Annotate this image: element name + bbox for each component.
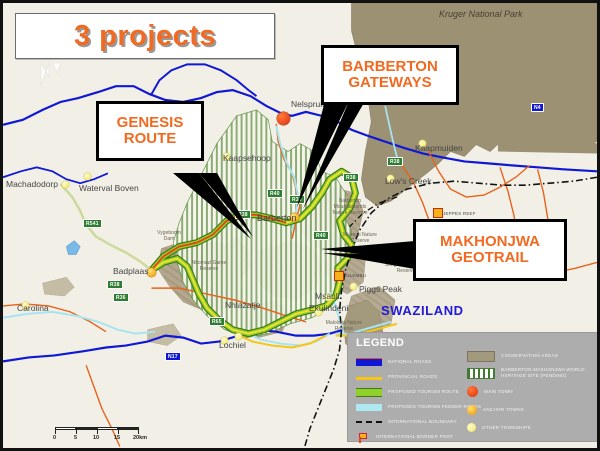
label-jeppes-reef-border-post: JEPPES REEF (443, 211, 476, 216)
label-ekulindeni: Ekulindeni (309, 303, 348, 313)
page-title: 3 projects (74, 20, 216, 53)
road-shield-r38d: R38 (107, 280, 123, 289)
legend-title: LEGEND (356, 337, 404, 349)
callout-geotrail-line2: GEOTRAIL (440, 250, 540, 266)
legend-item-world-heritage-site: BARBERTON MAKHONJWA WORLD HERITAGE SITE … (460, 364, 600, 382)
legend-item-conservation-areas: CONSERVATION AREAS (460, 349, 600, 363)
label-malolotja-nature-reserve: Malolotja Nature Reserve (321, 321, 367, 333)
legend-panel: LEGEND NATIONAL ROADS PROVINCIAL ROADS P… (348, 333, 599, 441)
road-shield-r40: R40 (267, 189, 283, 198)
scale-tick-0: 0 (53, 435, 56, 441)
north-arrow-icon (39, 61, 69, 87)
town-dot-piggs-peak[interactable] (350, 283, 357, 290)
label-machadodorp: Machadodorp (6, 179, 58, 189)
scale-bar: 0 5 10 15 20km (55, 427, 151, 443)
callout-barberton-gateways[interactable]: BARBERTON GATEWAYS (321, 45, 459, 105)
label-swaziland: SWAZILAND (381, 303, 464, 318)
international-boundary-swatch (356, 421, 382, 423)
main-town-dot (467, 386, 478, 397)
label-kaapsehoop: Kaapsehoop (223, 153, 271, 163)
label-lochiel: Lochiel (219, 340, 246, 350)
town-dot-machadodorp[interactable] (62, 181, 69, 188)
legend-item-main-town: MAIN TOWN (460, 383, 600, 400)
town-dot-nelspruit[interactable] (277, 112, 290, 125)
road-shield-n17: N17 (165, 352, 181, 361)
callout-genesis-line2: ROUTE (117, 131, 184, 147)
callout-genesis-route[interactable]: GENESIS ROUTE (96, 101, 204, 161)
label-barberton-mountainlands-nature-reserve: Barberton Mountainlands Nature Reserve (327, 199, 373, 216)
conservation-area-swatch (467, 351, 495, 362)
label-barberton: Barberton (257, 213, 297, 223)
map-figure: Kruger National Park SWAZILAND Nelspruit… (0, 0, 600, 451)
label-piggs-peak: Piggs Peak (359, 284, 402, 294)
label-nelspruit: Nelspruit (291, 99, 325, 109)
national-road-swatch (356, 358, 382, 366)
callout-genesis-line1: GENESIS (117, 115, 184, 131)
legend-item-other-townships: OTHER TOWNSHIPS (460, 419, 600, 436)
label-nhlazatje: Nhlazatje (225, 300, 260, 310)
label-lows-creek: Low's Creek (385, 176, 432, 186)
callout-makhonjwa-geotrail[interactable]: MAKHONJWA GEOTRAIL (413, 219, 567, 281)
callout-gateways-line1: BARBERTON (342, 59, 438, 75)
road-shield-r65: R65 (209, 317, 225, 326)
label-msauli: Msauli (315, 291, 340, 301)
label-vygeboom-dam: Vygeboom Dam (153, 231, 185, 243)
scale-tick-15: 15 (114, 435, 120, 441)
scale-tick-5: 5 (74, 435, 77, 441)
callout-gateways-line2: GATEWAYS (342, 75, 438, 91)
label-mlumati-nature-reserve: Mlumati Nature Reserve (337, 233, 383, 245)
road-shield-r38c: R38 (387, 157, 403, 166)
border-post-marker-bulembu[interactable] (334, 271, 344, 281)
world-heritage-site-swatch (467, 368, 495, 379)
road-shield-r38: R38 (235, 210, 251, 219)
label-kaapmuiden: Kaapmuiden (415, 143, 463, 153)
label-waterval-boven: Waterval Boven (79, 183, 139, 193)
road-shield-r38b: R38 (343, 173, 359, 182)
scale-tick-20: 20km (133, 435, 147, 441)
proposed-tourism-route-swatch (356, 388, 382, 397)
scale-tick-10: 10 (93, 435, 99, 441)
label-bulembu-border-post: BULEMBU (343, 273, 366, 278)
proposed-tourism-feeder-road-swatch (356, 404, 382, 411)
town-dot-waterval-boven[interactable] (84, 173, 91, 180)
label-carolina: Carolina (17, 303, 49, 313)
title-box: 3 projects (15, 13, 275, 59)
other-township-dot (467, 423, 476, 432)
road-shield-r36: R36 (113, 293, 129, 302)
road-shield-r40b: R40 (313, 231, 329, 240)
anchor-town-dot (467, 405, 477, 415)
road-shield-r541: R541 (83, 219, 102, 228)
road-shield-r33: R33 (289, 195, 305, 204)
label-kruger-national-park: Kruger National Park (439, 9, 523, 19)
border-post-marker-jeppes-reef[interactable] (433, 208, 443, 218)
road-shield-n4: N4 (531, 103, 544, 112)
international-border-post-icon (356, 432, 367, 443)
label-nkomazi-game-reserve: Nkomazi Game Reserve (186, 261, 232, 273)
callout-geotrail-line1: MAKHONJWA (440, 234, 540, 250)
provincial-road-swatch (356, 377, 382, 380)
town-dot-nhlazatje[interactable] (235, 333, 242, 340)
legend-item-anchor-towns: ANCHOR TOWNS (460, 401, 600, 418)
label-badplaas: Badplaas (113, 266, 148, 276)
